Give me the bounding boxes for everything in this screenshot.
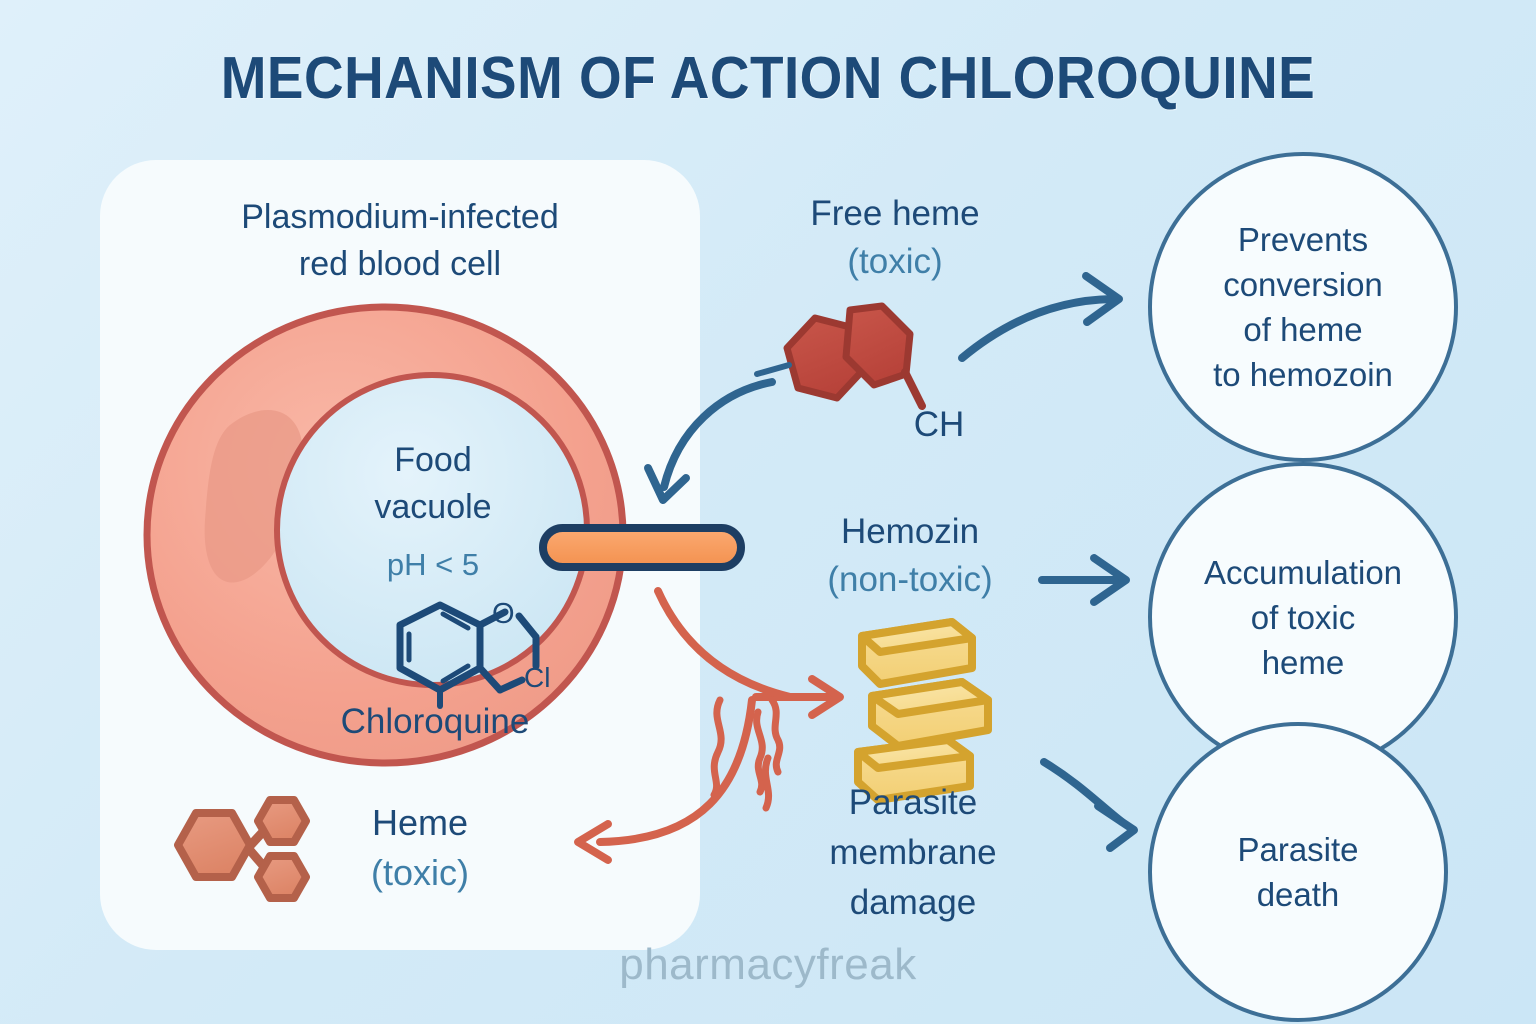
arrow-membrane-to-circle3	[1044, 762, 1134, 848]
hemozin-name: Hemozin	[841, 512, 979, 551]
outcome-1-line4: to hemozoin	[1213, 356, 1393, 393]
free-heme-label: Free heme (toxic)	[760, 190, 1030, 286]
heme-molecule-icon	[178, 800, 306, 898]
ch-group-label: CH	[894, 405, 984, 444]
vacuole-line2: vacuole	[374, 488, 491, 526]
membrane-line2: membrane	[829, 833, 996, 872]
diagram-canvas: MECHANISM OF ACTION CHLOROQUINE Plasmodi…	[0, 0, 1536, 1024]
membrane-line1: Parasite	[849, 783, 977, 822]
arrow-transporter-to-hemozoin	[658, 591, 840, 715]
heme-name: Heme	[372, 802, 468, 843]
free-heme-molecule-icon	[757, 306, 922, 406]
outcome-circle-prevents-conversion: Prevents conversion of heme to hemozoin	[1148, 152, 1458, 462]
ph-value-label: pH < 5	[318, 548, 548, 583]
chloroquine-label: Chloroquine	[250, 702, 620, 741]
oxygen-atom-label: O	[492, 598, 515, 631]
outcome-1-line3: of heme	[1243, 311, 1362, 348]
outcome-2-line1: Accumulation	[1204, 554, 1402, 591]
outcome-2-text: Accumulation of toxic heme	[1188, 550, 1418, 685]
outcome-1-line2: conversion	[1223, 266, 1383, 303]
free-heme-toxicity: (toxic)	[760, 238, 1030, 286]
parasite-membrane-damage-label: Parasite membrane damage	[788, 778, 1038, 928]
outcome-2-line2: of toxic	[1251, 599, 1356, 636]
watermark: pharmacyfreak	[0, 940, 1536, 990]
arrow-hemozin-to-circle2	[1042, 558, 1126, 602]
outcome-3-line1: Parasite	[1237, 831, 1358, 868]
outcome-1-text: Prevents conversion of heme to hemozoin	[1197, 217, 1409, 397]
food-vacuole-label: Food vacuole	[318, 437, 548, 531]
hemozin-label: Hemozin (non-toxic)	[775, 508, 1045, 604]
outcome-3-text: Parasite death	[1221, 827, 1374, 917]
heme-toxicity: (toxic)	[300, 848, 540, 898]
transporter-channel-icon	[543, 528, 741, 567]
arrow-freeheme-to-circle1	[962, 276, 1119, 358]
outcome-2-line3: heme	[1262, 644, 1345, 681]
chlorine-atom-label: Cl	[524, 662, 550, 694]
arrow-heme-to-vacuole	[648, 382, 772, 500]
membrane-line3: damage	[850, 883, 976, 922]
outcome-1-line1: Prevents	[1238, 221, 1368, 258]
free-heme-name: Free heme	[810, 194, 979, 233]
hemozin-toxicity: (non-toxic)	[775, 556, 1045, 604]
hemozoin-crystal-icon	[858, 622, 988, 800]
heme-label: Heme (toxic)	[300, 798, 540, 898]
outcome-3-line2: death	[1257, 876, 1340, 913]
vacuole-line1: Food	[394, 441, 472, 479]
